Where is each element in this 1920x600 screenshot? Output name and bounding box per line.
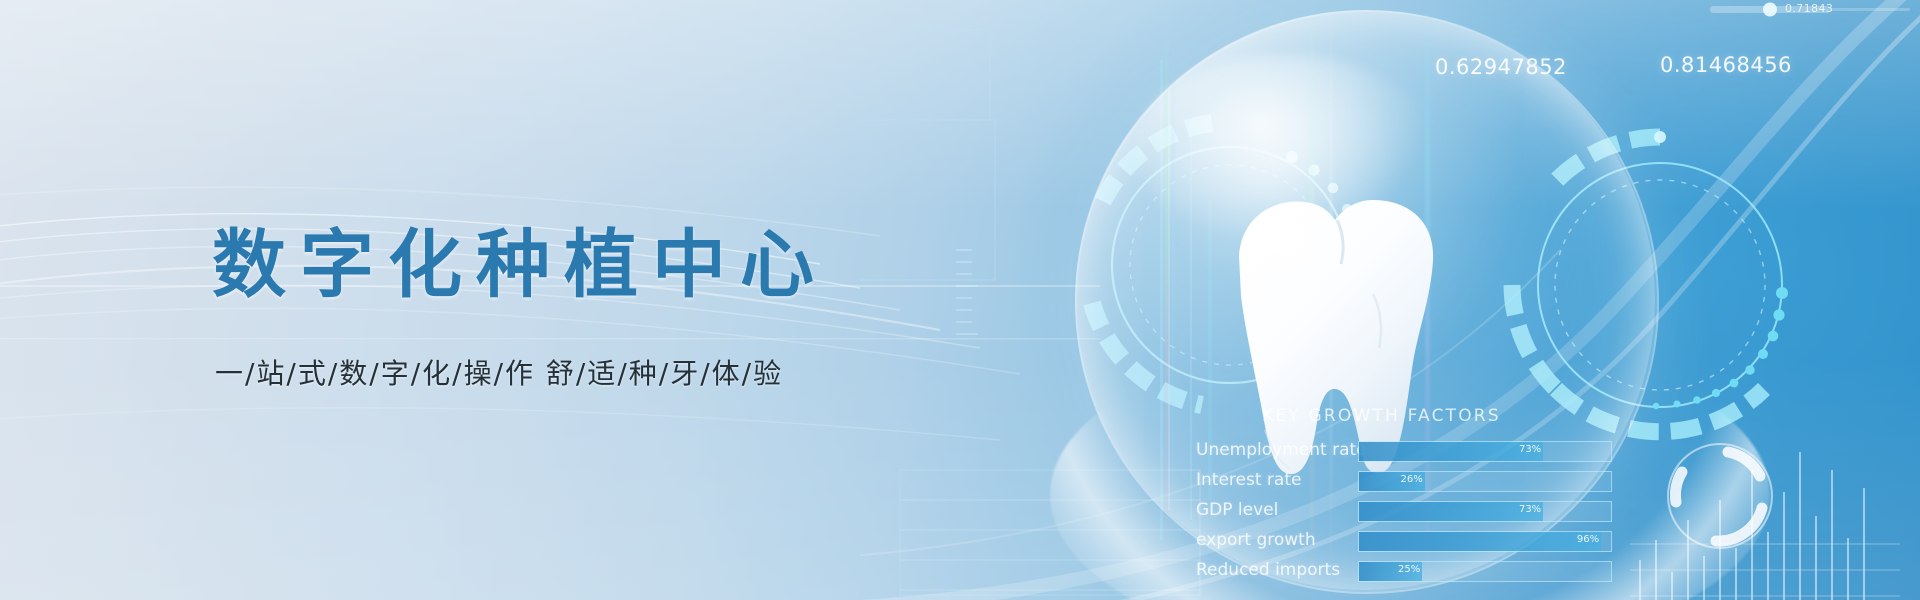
banner-root: 0.62947852 0.81468456 0.71843 KEY GROWTH… — [0, 0, 1920, 600]
chart-rows: Unemployment rate73%Interest rate26%GDP … — [1196, 440, 1616, 590]
chart-row-label: Unemployment rate — [1196, 440, 1352, 460]
chart-row-label: export growth — [1196, 530, 1352, 550]
chart-row: Unemployment rate73% — [1196, 440, 1616, 463]
chart-title: KEY GROWTH FACTORS — [1262, 406, 1501, 426]
prism-streak-1 — [1165, 0, 1168, 600]
chart-row-track: 73% — [1358, 441, 1612, 462]
hud-readout-right: 0.81468456 — [1660, 53, 1792, 77]
chart-row-label: Interest rate — [1196, 470, 1352, 490]
hud-slider-value: 0.71843 — [1785, 2, 1833, 15]
chart-row: GDP level73% — [1196, 500, 1616, 523]
chart-row-label: Reduced imports — [1196, 560, 1352, 580]
page-subtitle: 一/站/式/数/字/化/操/作 舒/适/种/牙/体/验 — [215, 352, 783, 392]
chart-row-track: 96% — [1358, 531, 1612, 552]
tooth-illustration — [1205, 190, 1465, 480]
chart-row-value: 26% — [1401, 474, 1423, 485]
chart-row: Reduced imports25% — [1196, 560, 1616, 583]
chart-row-track: 25% — [1358, 561, 1612, 582]
chart-row-label: GDP level — [1196, 500, 1352, 520]
hud-readout-left: 0.62947852 — [1435, 55, 1567, 79]
chart-row-fill — [1359, 502, 1543, 521]
chart-row-fill — [1359, 442, 1543, 461]
chart-row: export growth96% — [1196, 530, 1616, 553]
chart-row-track: 73% — [1358, 501, 1612, 522]
chart-row-value: 73% — [1519, 444, 1541, 455]
chart-row-value: 96% — [1577, 534, 1599, 545]
chart-row-value: 73% — [1519, 504, 1541, 515]
chart-row: Interest rate26% — [1196, 470, 1616, 493]
prism-streak-2 — [1172, 0, 1174, 600]
chart-row-track: 26% — [1358, 471, 1612, 492]
chart-row-fill — [1359, 532, 1601, 551]
chart-row-value: 25% — [1398, 564, 1420, 575]
page-title: 数字化种植中心 — [212, 205, 828, 312]
